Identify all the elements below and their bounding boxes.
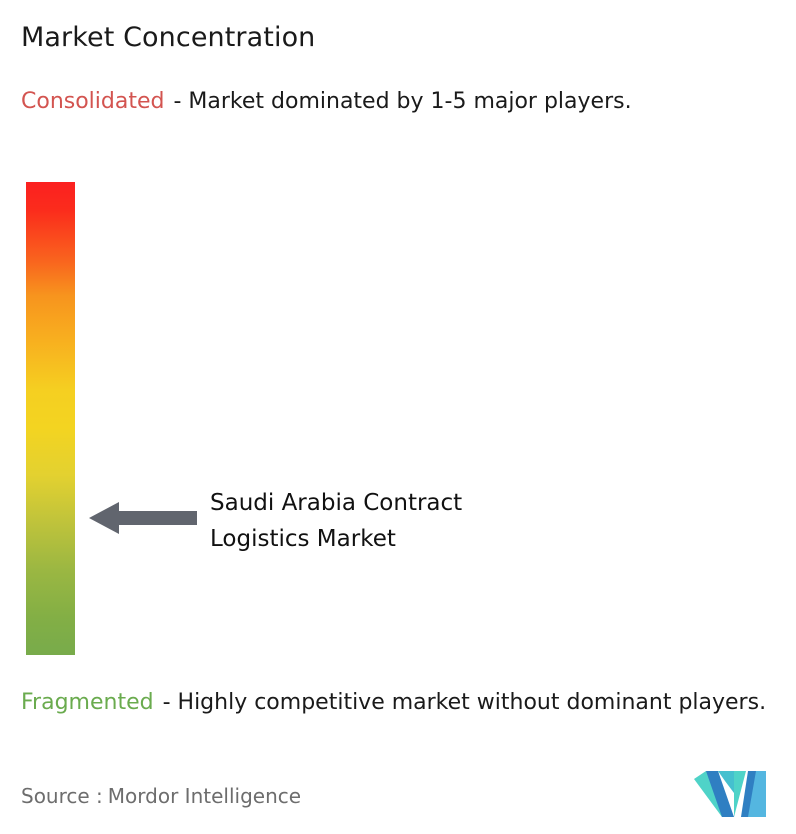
legend-description-consolidated: - Market dominated by 1-5 major players. (173, 89, 631, 114)
page-title: Market Concentration (21, 21, 315, 55)
left-arrow-icon (89, 499, 197, 537)
market-label-line-1: Saudi Arabia Contract (210, 485, 630, 521)
market-label: Saudi Arabia Contract Logistics Market (210, 485, 630, 557)
market-label-line-2: Logistics Market (210, 521, 630, 557)
source-line: Source :Mordor Intelligence (21, 783, 301, 809)
source-label: Source : (21, 784, 103, 808)
legend-description-fragmented: - Highly competitive market without domi… (163, 690, 766, 715)
source-value: Mordor Intelligence (108, 784, 301, 808)
legend-term-consolidated: Consolidated (21, 89, 164, 114)
mordor-intelligence-logo (694, 771, 766, 817)
legend-fragmented: Fragmented- Highly competitive market wi… (21, 687, 789, 719)
legend-term-fragmented: Fragmented (21, 690, 154, 715)
concentration-gradient-bar (26, 182, 75, 655)
legend-consolidated: Consolidated- Market dominated by 1-5 ma… (21, 86, 773, 118)
